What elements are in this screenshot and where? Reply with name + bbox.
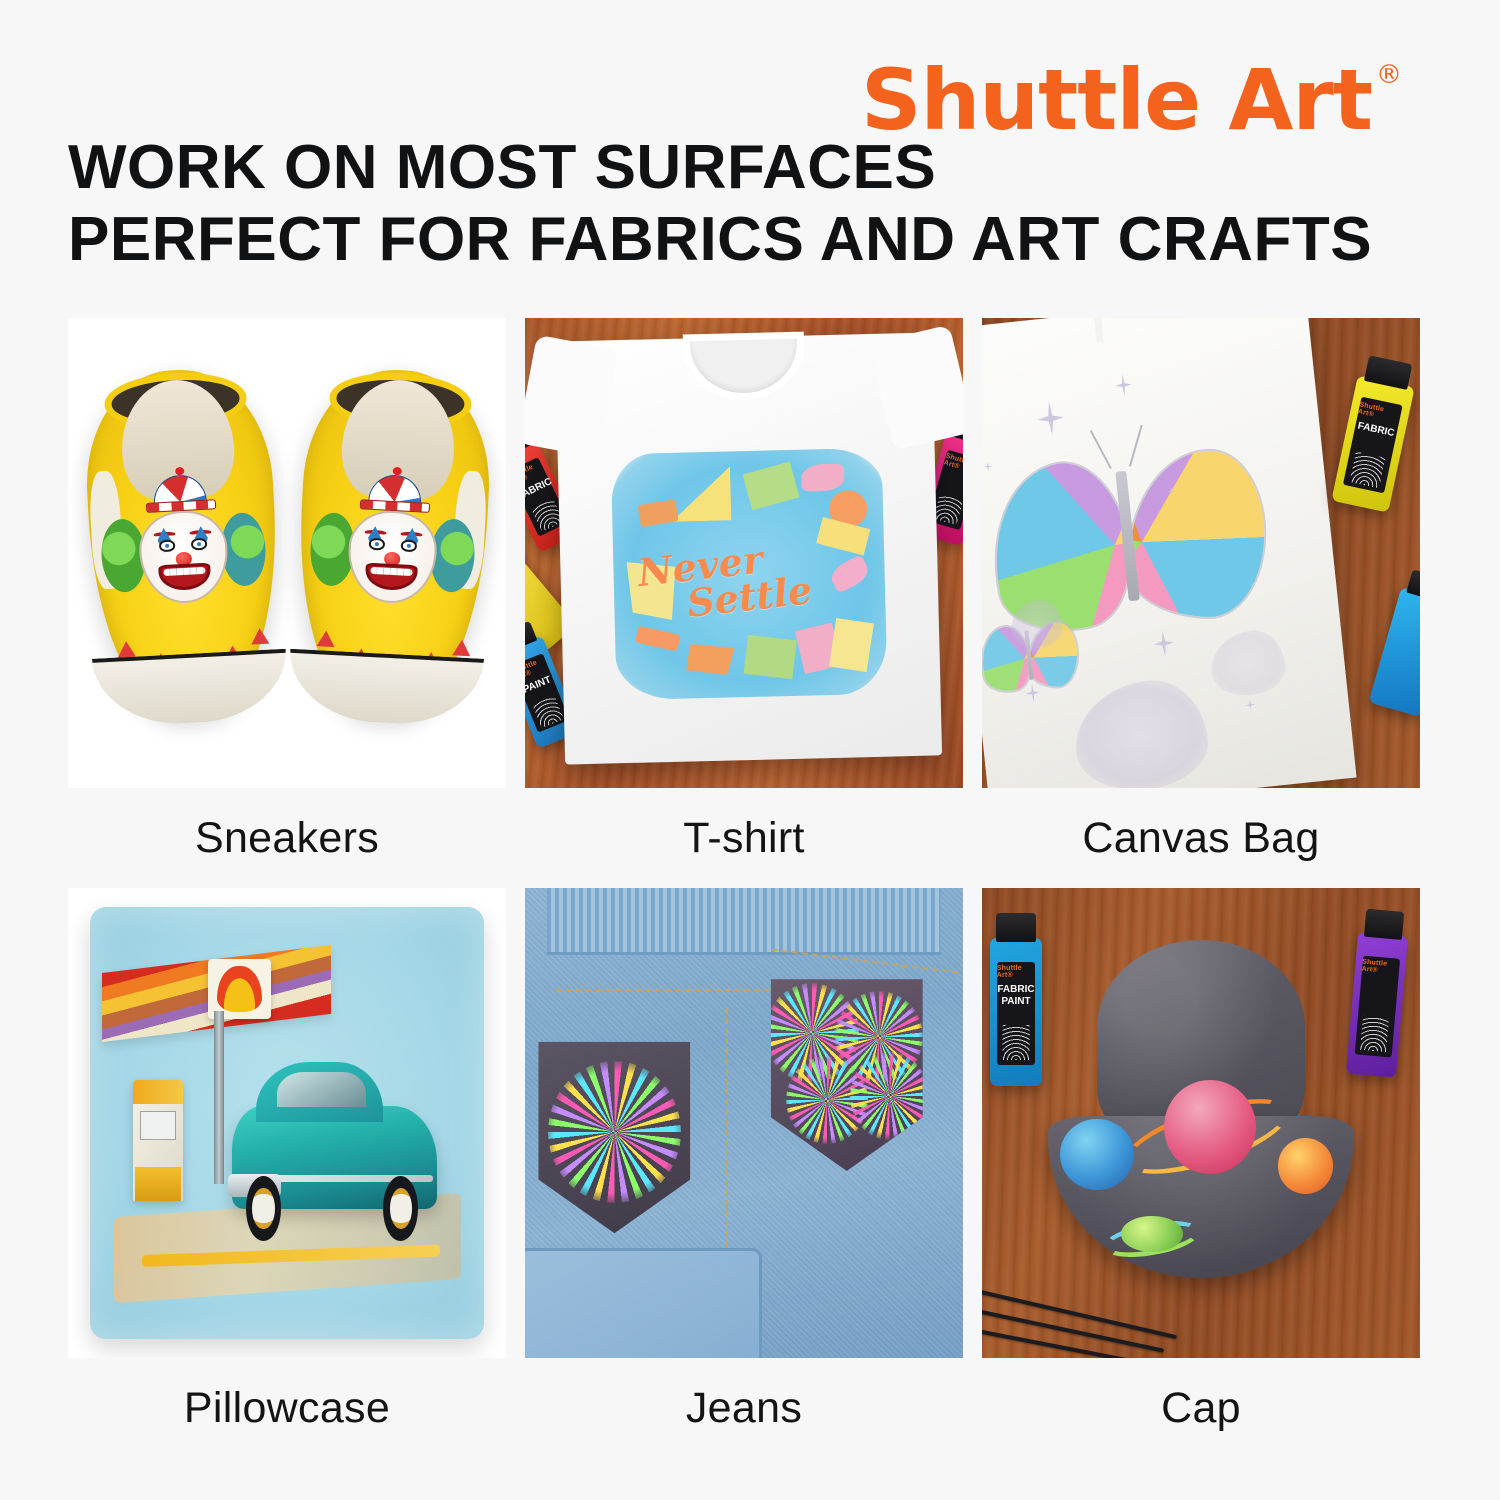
jeans-leg-fold <box>525 1248 762 1358</box>
planet-green <box>1121 1216 1182 1252</box>
sparkle-icon <box>1115 373 1133 397</box>
tile-photo-cap[interactable]: Shuttle Art® FABRIC PAINT Shuttle Art® <box>982 888 1420 1358</box>
shell-logo-icon <box>217 966 262 1012</box>
dot-icon <box>1245 699 1256 710</box>
sparkle-icon <box>1036 400 1065 437</box>
car-cabin <box>256 1062 383 1122</box>
jeans-waistband <box>547 888 940 955</box>
tshirt-neckline <box>683 331 805 402</box>
header-banner: Shuttle Art ® WORK ON MOST SURFACES PERF… <box>0 0 1500 300</box>
caption-pillowcase: Pillowcase <box>68 1358 506 1458</box>
product-showcase-grid: Shuttle Art® FABRIC Shuttle Art® PAINT S… <box>68 318 1432 1458</box>
bottle-label: Shuttle Art® FABRIC PAINT <box>997 962 1035 1066</box>
paint-bottle-blue: Shuttle Art® FABRIC PAINT <box>990 938 1042 1086</box>
planet-blue <box>1060 1119 1134 1190</box>
fingerprint-swirl-icon <box>532 696 563 728</box>
bottle-product-name: PAINT <box>525 674 553 696</box>
tile-photo-jeans[interactable] <box>525 888 963 1358</box>
painted-artwork-patch: Never Settle <box>610 448 887 700</box>
fingerprint-swirl-icon <box>1360 1016 1389 1052</box>
hat-brim <box>1048 1116 1355 1278</box>
jeans-pocket-left[interactable] <box>538 1042 690 1234</box>
firework-art <box>548 1061 682 1203</box>
white-tshirt: Never Settle <box>555 332 942 764</box>
butterfly-antenna-right <box>1129 425 1143 467</box>
jeans-center-seam <box>726 1008 739 1257</box>
pump-base <box>135 1167 180 1201</box>
caption-sneakers: Sneakers <box>68 788 506 888</box>
butterfly-outline-bottom <box>1070 675 1213 788</box>
headline-line-2: PERFECT FOR FABRICS AND ART CRAFTS <box>68 204 1372 276</box>
sneaker-right <box>291 365 495 720</box>
tile-photo-canvas-bag[interactable]: Shuttle Art® FABRIC <box>982 318 1420 788</box>
bottle-brand-text: Shuttle Art® <box>943 453 963 476</box>
page-title: WORK ON MOST SURFACES PERFECT FOR FABRIC… <box>68 132 1372 276</box>
canvas-tote-bag <box>982 318 1357 788</box>
car-rear-wheel <box>383 1176 418 1240</box>
dot-icon <box>984 461 994 471</box>
butterfly-wing-right <box>1128 450 1264 616</box>
brand-wordmark: Shuttle Art <box>861 58 1372 142</box>
brand-logo: Shuttle Art ® <box>861 58 1402 142</box>
car-front-wheel <box>246 1176 281 1240</box>
firework-art <box>850 1052 923 1140</box>
bottle-cap <box>1364 909 1404 941</box>
headline-line-1: WORK ON MOST SURFACES <box>68 132 1372 204</box>
tile-photo-pillowcase[interactable] <box>68 888 506 1358</box>
caption-jeans: Jeans <box>525 1358 963 1458</box>
tshirt-shoulder-right <box>868 324 963 450</box>
bottle-brand-text: Shuttle Art® <box>997 965 1035 979</box>
fuel-pump <box>133 1080 182 1201</box>
tile-photo-sneakers[interactable] <box>68 318 506 788</box>
jeans-pocket-right[interactable] <box>771 979 923 1171</box>
caption-canvas-bag: Canvas Bag <box>982 788 1420 888</box>
sparkle-icon <box>1153 629 1176 657</box>
tshirt-shoulder-left <box>525 334 618 457</box>
butterfly-outline-right <box>1209 627 1289 698</box>
artwork-lettering: Never Settle <box>629 502 870 654</box>
vintage-car <box>232 1106 437 1210</box>
caption-cap: Cap <box>982 1358 1420 1458</box>
sneaker-left <box>81 365 285 720</box>
bottle-label: Shuttle Art® FABRIC <box>1342 397 1403 494</box>
bottle-brand-text: Shuttle Art® <box>1357 401 1402 424</box>
pump-display <box>140 1111 175 1140</box>
bottle-product-name-2: PAINT <box>1001 996 1030 1008</box>
fingerprint-swirl-icon <box>933 495 963 526</box>
registered-trademark-icon: ® <box>1376 60 1402 90</box>
car-window <box>277 1072 366 1107</box>
bottle-label: Shuttle Art® <box>1354 955 1400 1057</box>
pump-top <box>133 1080 182 1104</box>
bottle-brand-text: Shuttle Art® <box>1361 959 1399 976</box>
caption-tshirt: T-shirt <box>525 788 963 888</box>
bottle-product-name-1: FABRIC <box>997 984 1034 996</box>
planet-pink-saturn <box>1164 1080 1256 1174</box>
fingerprint-swirl-icon <box>1003 1025 1030 1060</box>
tile-photo-tshirt[interactable]: Shuttle Art® FABRIC Shuttle Art® PAINT S… <box>525 318 963 788</box>
canopy-support-pole <box>214 1011 224 1184</box>
painted-pillowcase <box>90 907 484 1339</box>
planet-orange <box>1278 1138 1333 1193</box>
jeans-seam <box>556 989 779 991</box>
bottle-cap <box>996 913 1036 943</box>
painted-bucket-hat <box>1048 940 1355 1278</box>
butterfly-antenna-left <box>1090 430 1112 469</box>
road-stripe <box>141 1245 439 1268</box>
painted-jeans <box>525 888 963 1358</box>
bottle-product-name: FABRIC <box>1357 420 1396 439</box>
bag-handle <box>982 318 1104 356</box>
fingerprint-swirl-icon <box>1350 452 1386 488</box>
